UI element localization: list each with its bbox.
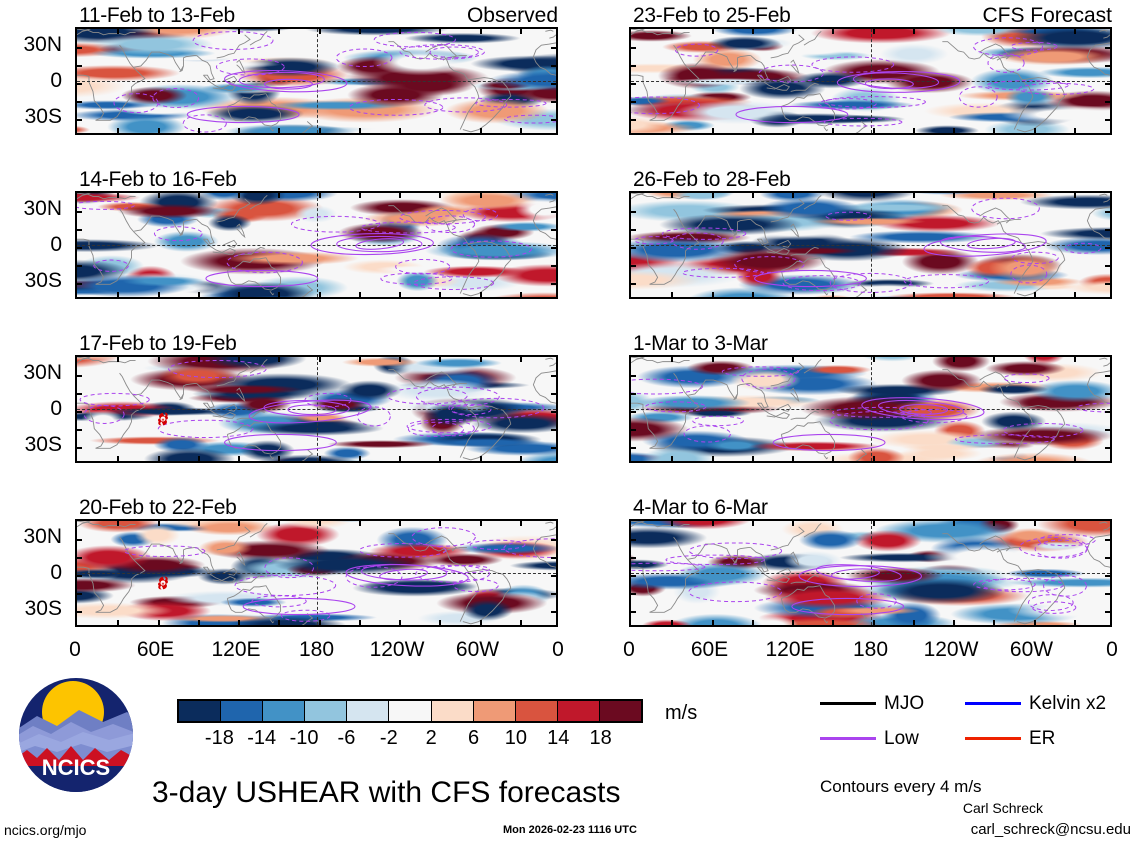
wave-contours (77, 29, 556, 133)
axis-tick (117, 520, 119, 526)
axis-tick (278, 456, 280, 462)
y-axis-tick-label: 0 (0, 562, 62, 583)
y-axis-tick-label: 0 (0, 398, 62, 419)
axis-tick (712, 356, 714, 362)
axis-tick (630, 265, 636, 267)
axis-tick (439, 620, 441, 626)
axis-tick (993, 128, 995, 134)
axis-tick (480, 456, 482, 462)
cyclone-symbol: H (156, 411, 170, 427)
axis-tick (551, 283, 557, 285)
x-axis-tick-label: 120W (355, 639, 439, 660)
y-axis-tick-label: 30N (0, 526, 62, 547)
axis-tick (520, 620, 522, 626)
axis-tick (238, 456, 240, 462)
site-url[interactable]: ncics.org/mjo (4, 823, 86, 837)
axis-tick (278, 192, 280, 198)
axis-tick (1034, 28, 1036, 34)
axis-tick (520, 520, 522, 526)
axis-tick (76, 47, 82, 49)
axis-tick (993, 456, 995, 462)
axis-tick (278, 520, 280, 526)
axis-tick (792, 456, 794, 462)
axis-tick (832, 620, 834, 626)
map-panel (75, 191, 558, 299)
colorbar-swatch (558, 701, 600, 721)
axis-tick (399, 192, 401, 198)
x-axis-tick-label: 60E (668, 639, 752, 660)
axis-tick (117, 356, 119, 362)
axis-tick (1105, 593, 1111, 595)
axis-tick (1034, 192, 1036, 198)
axis-tick (520, 292, 522, 298)
colorbar-tick-label: -6 (322, 728, 370, 748)
figure-title: 3-day USHEAR with CFS forecasts (152, 778, 620, 808)
colorbar-swatch (347, 701, 389, 721)
axis-tick (158, 620, 160, 626)
panel-corner-label: Observed (75, 5, 558, 26)
axis-tick (873, 620, 875, 626)
colorbar-swatch (179, 701, 221, 721)
axis-tick (1034, 456, 1036, 462)
timestamp: Mon 2026-02-23 1116 UTC (503, 825, 637, 836)
axis-tick (439, 520, 441, 526)
axis-tick (1105, 447, 1111, 449)
axis-tick (712, 128, 714, 134)
axis-tick (671, 356, 673, 362)
panel-title: 26-Feb to 28-Feb (633, 169, 790, 190)
colorbar-tick-label: 18 (577, 728, 625, 748)
axis-tick (712, 456, 714, 462)
y-axis-tick-label: 30S (0, 598, 62, 619)
wave-contours (77, 193, 556, 297)
axis-tick (993, 356, 995, 362)
axis-tick (953, 620, 955, 626)
x-axis-tick-label: 60W (436, 639, 520, 660)
axis-tick (630, 375, 636, 377)
axis-tick (76, 557, 82, 559)
legend-label: MJO (884, 694, 924, 713)
legend-line-swatch (820, 702, 876, 705)
axis-tick (76, 411, 82, 413)
axis-tick (439, 128, 441, 134)
axis-tick (76, 101, 82, 103)
panel-title: 14-Feb to 16-Feb (79, 169, 236, 190)
axis-tick (913, 520, 915, 526)
axis-tick (873, 520, 875, 526)
panel-title: 1-Mar to 3-Mar (633, 333, 768, 354)
axis-tick (238, 520, 240, 526)
axis-tick (198, 620, 200, 626)
axis-tick (551, 47, 557, 49)
ncics-logo-text: NCICS (42, 755, 110, 780)
axis-tick (117, 620, 119, 626)
axis-tick (671, 292, 673, 298)
axis-tick (993, 292, 995, 298)
axis-tick (1074, 520, 1076, 526)
axis-tick (1105, 283, 1111, 285)
axis-tick (1105, 229, 1111, 231)
axis-tick (1105, 611, 1111, 613)
colorbar-swatch (432, 701, 474, 721)
colorbar-tick-label: 6 (450, 728, 498, 748)
axis-tick (752, 620, 754, 626)
wave-contours (631, 357, 1110, 461)
axis-tick (399, 620, 401, 626)
axis-tick (117, 28, 119, 34)
axis-tick (832, 356, 834, 362)
axis-tick (1105, 83, 1111, 85)
x-axis-tick-label: 180 (275, 639, 359, 660)
axis-tick (671, 520, 673, 526)
axis-tick (480, 128, 482, 134)
axis-tick (873, 456, 875, 462)
axis-tick (359, 356, 361, 362)
axis-tick (76, 593, 82, 595)
axis-tick (551, 593, 557, 595)
axis-tick (630, 539, 636, 541)
axis-tick (76, 211, 82, 213)
x-axis-tick-label: 0 (587, 639, 671, 660)
axis-tick (238, 192, 240, 198)
colorbar-tick-label: -14 (238, 728, 286, 748)
axis-tick (76, 265, 82, 267)
axis-tick (671, 192, 673, 198)
map-panel: H (75, 355, 558, 463)
axis-tick (520, 456, 522, 462)
axis-tick (278, 128, 280, 134)
axis-tick (551, 119, 557, 121)
axis-tick (117, 128, 119, 134)
axis-tick (278, 292, 280, 298)
axis-tick (752, 456, 754, 462)
axis-tick (399, 28, 401, 34)
axis-tick (439, 456, 441, 462)
axis-tick (359, 520, 361, 526)
axis-tick (752, 356, 754, 362)
axis-tick (359, 28, 361, 34)
axis-tick (832, 520, 834, 526)
axis-tick (752, 28, 754, 34)
axis-tick (158, 356, 160, 362)
axis-tick (278, 356, 280, 362)
legend-label: Kelvin x2 (1029, 694, 1106, 713)
axis-tick (1034, 356, 1036, 362)
axis-tick (1105, 393, 1111, 395)
axis-tick (551, 411, 557, 413)
axis-tick (671, 128, 673, 134)
axis-tick (551, 83, 557, 85)
axis-tick (752, 292, 754, 298)
y-axis-tick-label: 30S (0, 270, 62, 291)
colorbar-tick-label: -2 (365, 728, 413, 748)
axis-tick (630, 447, 636, 449)
axis-tick (792, 192, 794, 198)
axis-tick (832, 456, 834, 462)
y-axis-tick-label: 0 (0, 70, 62, 91)
axis-tick (439, 192, 441, 198)
axis-tick (399, 292, 401, 298)
axis-tick (1074, 28, 1076, 34)
axis-tick (359, 620, 361, 626)
map-panel (629, 355, 1112, 463)
axis-tick (1074, 192, 1076, 198)
axis-tick (1105, 411, 1111, 413)
axis-tick (630, 429, 636, 431)
axis-tick (551, 247, 557, 249)
axis-tick (76, 65, 82, 67)
axis-tick (1105, 65, 1111, 67)
cyclone-symbol: H (156, 575, 170, 591)
axis-tick (671, 456, 673, 462)
wave-contours (77, 357, 556, 461)
axis-tick (439, 28, 441, 34)
axis-tick (873, 192, 875, 198)
axis-tick (993, 620, 995, 626)
axis-tick (198, 192, 200, 198)
panel-corner-label: CFS Forecast (629, 5, 1112, 26)
colorbar-swatch (600, 701, 641, 721)
x-axis-tick-label: 60W (990, 639, 1074, 660)
axis-tick (873, 292, 875, 298)
axis-tick (520, 28, 522, 34)
axis-tick (953, 128, 955, 134)
wave-contours (631, 29, 1110, 133)
x-axis-tick-label: 120E (748, 639, 832, 660)
axis-tick (238, 292, 240, 298)
axis-tick (551, 429, 557, 431)
axis-tick (671, 28, 673, 34)
legend-line-swatch (965, 737, 1021, 740)
legend-label: ER (1029, 729, 1055, 748)
map-panel (629, 191, 1112, 299)
axis-tick (1034, 620, 1036, 626)
contour-interval-note: Contours every 4 m/s (820, 778, 982, 795)
axis-tick (551, 65, 557, 67)
axis-tick (792, 520, 794, 526)
axis-tick (76, 229, 82, 231)
axis-tick (953, 456, 955, 462)
colorbar-tick-label: 2 (407, 728, 455, 748)
axis-tick (76, 83, 82, 85)
y-axis-tick-label: 30N (0, 198, 62, 219)
x-axis-tick-label: 60E (114, 639, 198, 660)
axis-tick (1074, 456, 1076, 462)
axis-tick (630, 101, 636, 103)
legend-line-swatch (965, 702, 1021, 705)
axis-tick (913, 456, 915, 462)
axis-tick (832, 192, 834, 198)
axis-tick (1034, 520, 1036, 526)
axis-tick (198, 28, 200, 34)
axis-tick (993, 28, 995, 34)
axis-tick (630, 229, 636, 231)
axis-tick (1074, 620, 1076, 626)
axis-tick (630, 593, 636, 595)
colorbar-swatch (389, 701, 431, 721)
axis-tick (158, 192, 160, 198)
map-panel (75, 27, 558, 135)
axis-tick (439, 292, 441, 298)
axis-tick (792, 620, 794, 626)
axis-tick (359, 456, 361, 462)
axis-tick (76, 393, 82, 395)
x-axis-tick-label: 0 (33, 639, 117, 660)
axis-tick (752, 128, 754, 134)
axis-tick (792, 128, 794, 134)
axis-tick (551, 375, 557, 377)
axis-tick (1105, 119, 1111, 121)
legend-label: Low (884, 729, 919, 748)
axis-tick (359, 192, 361, 198)
axis-tick (117, 192, 119, 198)
axis-tick (359, 292, 361, 298)
axis-tick (480, 620, 482, 626)
axis-tick (630, 211, 636, 213)
x-axis-tick-label: 120E (194, 639, 278, 660)
axis-tick (953, 292, 955, 298)
axis-tick (913, 28, 915, 34)
axis-tick (158, 292, 160, 298)
axis-tick (1105, 575, 1111, 577)
axis-tick (1105, 429, 1111, 431)
axis-tick (993, 520, 995, 526)
panel-title: 4-Mar to 6-Mar (633, 497, 768, 518)
y-axis-tick-label: 30S (0, 434, 62, 455)
axis-tick (953, 356, 955, 362)
axis-tick (551, 447, 557, 449)
axis-tick (198, 356, 200, 362)
axis-tick (1105, 47, 1111, 49)
axis-tick (158, 28, 160, 34)
axis-tick (278, 28, 280, 34)
axis-tick (520, 192, 522, 198)
axis-tick (198, 520, 200, 526)
axis-tick (238, 28, 240, 34)
axis-tick (198, 292, 200, 298)
axis-tick (1034, 128, 1036, 134)
axis-tick (1074, 128, 1076, 134)
y-axis-tick-label: 30N (0, 34, 62, 55)
axis-tick (832, 292, 834, 298)
axis-tick (399, 456, 401, 462)
axis-tick (551, 229, 557, 231)
axis-tick (480, 28, 482, 34)
author-name: Carl Schreck (963, 801, 1043, 815)
axis-tick (752, 520, 754, 526)
axis-tick (953, 28, 955, 34)
wave-contours (631, 521, 1110, 625)
axis-tick (480, 192, 482, 198)
colorbar-tick-label: 14 (534, 728, 582, 748)
x-axis-tick-label: 0 (1070, 639, 1135, 660)
x-axis-tick-label: 180 (829, 639, 913, 660)
axis-tick (1105, 539, 1111, 541)
axis-tick (399, 356, 401, 362)
axis-tick (993, 192, 995, 198)
axis-tick (832, 28, 834, 34)
axis-tick (873, 28, 875, 34)
axis-tick (712, 192, 714, 198)
axis-tick (630, 575, 636, 577)
axis-tick (76, 539, 82, 541)
axis-tick (1105, 101, 1111, 103)
axis-tick (76, 575, 82, 577)
axis-tick (832, 128, 834, 134)
axis-tick (1105, 375, 1111, 377)
axis-tick (630, 65, 636, 67)
axis-tick (551, 211, 557, 213)
axis-tick (913, 620, 915, 626)
axis-tick (439, 356, 441, 362)
panel-title: 20-Feb to 22-Feb (79, 497, 236, 518)
axis-tick (319, 520, 321, 526)
axis-tick (319, 192, 321, 198)
y-axis-tick-label: 30S (0, 106, 62, 127)
axis-tick (630, 47, 636, 49)
colorbar (177, 699, 643, 723)
wave-contours (77, 521, 556, 625)
axis-tick (319, 356, 321, 362)
axis-tick (76, 247, 82, 249)
axis-tick (1074, 356, 1076, 362)
axis-tick (630, 83, 636, 85)
axis-tick (953, 192, 955, 198)
ncics-logo: NCICS (17, 676, 135, 794)
axis-tick (1105, 211, 1111, 213)
map-panel (629, 519, 1112, 627)
axis-tick (630, 393, 636, 395)
author-email[interactable]: carl_schreck@ncsu.edu (971, 822, 1131, 837)
axis-tick (117, 292, 119, 298)
axis-tick (238, 356, 240, 362)
axis-tick (712, 620, 714, 626)
axis-tick (630, 411, 636, 413)
axis-tick (792, 292, 794, 298)
axis-tick (76, 283, 82, 285)
axis-tick (630, 611, 636, 613)
axis-tick (752, 192, 754, 198)
axis-tick (712, 292, 714, 298)
axis-tick (712, 520, 714, 526)
svg-text:H: H (162, 418, 165, 422)
colorbar-unit-label: m/s (665, 703, 697, 723)
axis-tick (76, 429, 82, 431)
axis-tick (319, 128, 321, 134)
y-axis-tick-label: 0 (0, 234, 62, 255)
axis-tick (399, 520, 401, 526)
axis-tick (319, 620, 321, 626)
axis-tick (359, 128, 361, 134)
axis-tick (238, 128, 240, 134)
axis-tick (630, 247, 636, 249)
axis-tick (520, 128, 522, 134)
axis-tick (319, 292, 321, 298)
colorbar-swatch (474, 701, 516, 721)
axis-tick (792, 28, 794, 34)
axis-tick (873, 128, 875, 134)
axis-tick (551, 101, 557, 103)
legend-line-swatch (820, 737, 876, 740)
axis-tick (158, 456, 160, 462)
axis-tick (630, 557, 636, 559)
colorbar-swatch (263, 701, 305, 721)
axis-tick (520, 356, 522, 362)
axis-tick (630, 283, 636, 285)
axis-tick (158, 520, 160, 526)
axis-tick (913, 356, 915, 362)
axis-tick (278, 620, 280, 626)
